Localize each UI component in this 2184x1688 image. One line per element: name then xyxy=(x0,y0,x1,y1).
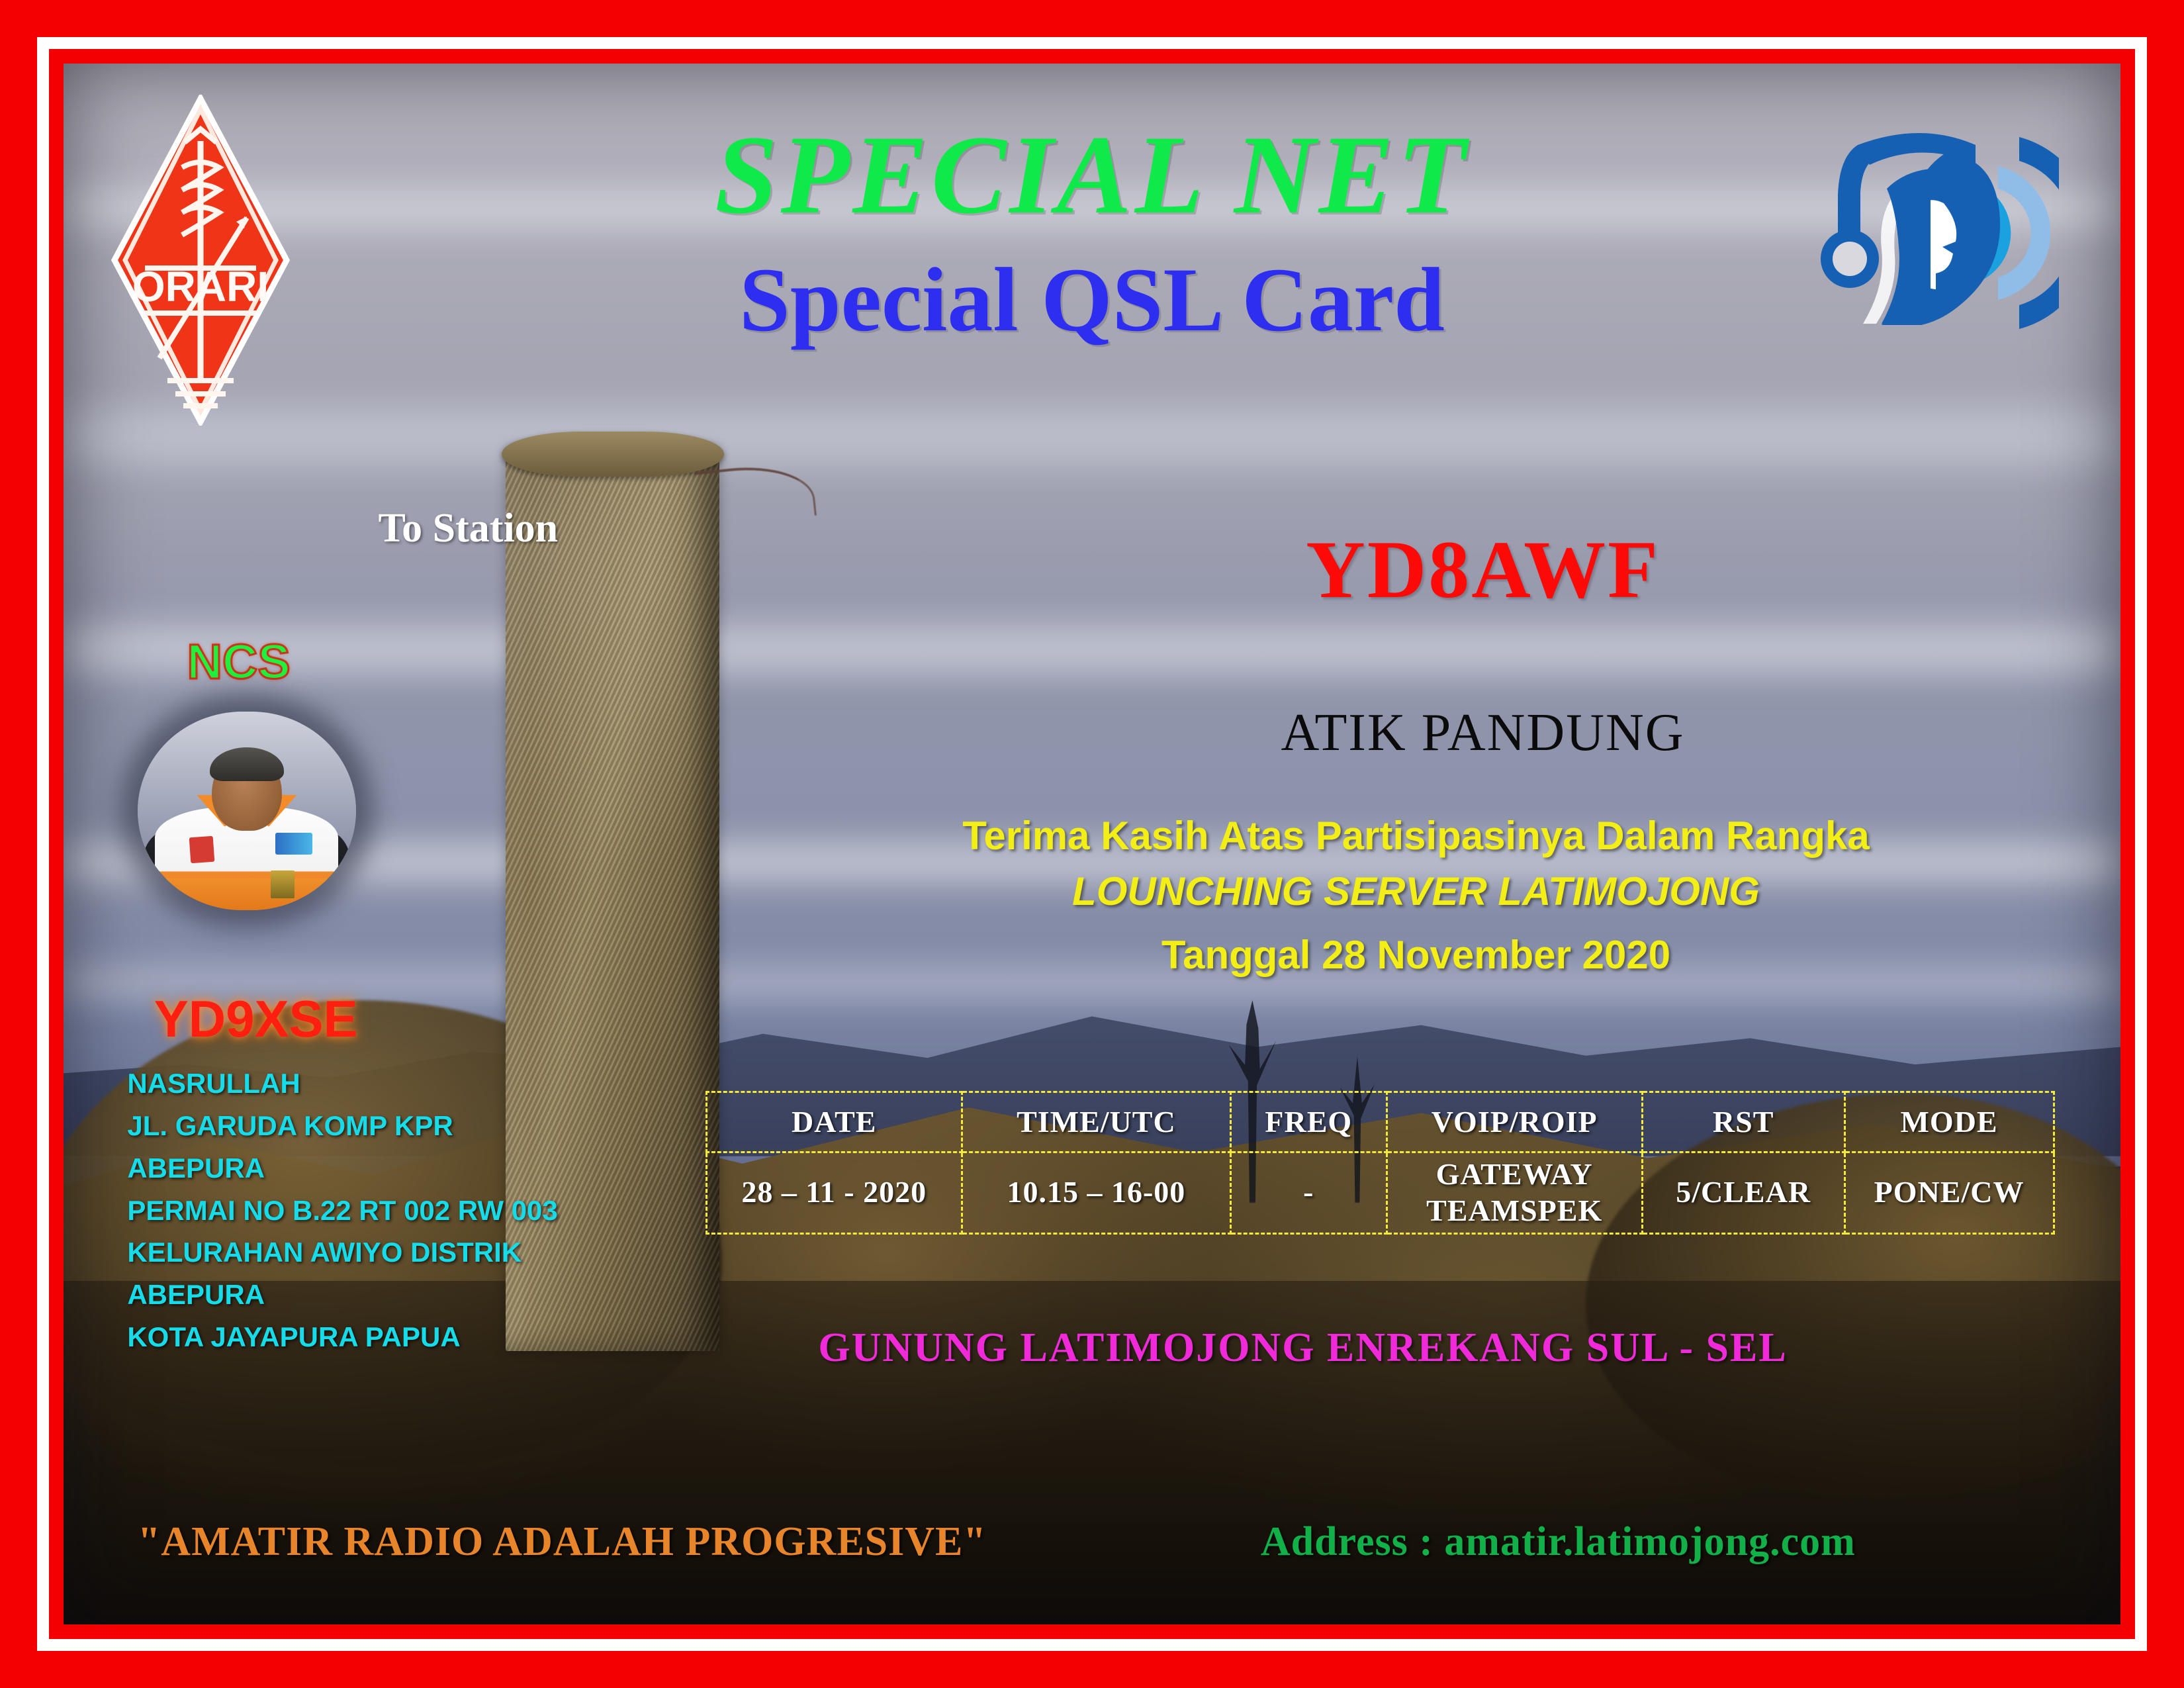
table-header-time-utc: TIME/UTC xyxy=(962,1092,1230,1152)
thanks-message-block: Terima Kasih Atas Partisipasinya Dalam R… xyxy=(763,813,2070,987)
address-line: NASRULLAH xyxy=(127,1062,806,1105)
address-line: ABEPURA xyxy=(127,1274,806,1316)
qso-log-table: DATE TIME/UTC FREQ VOIP/ROIP RST MODE 28… xyxy=(705,1091,2055,1235)
qsl-card: ORARI xyxy=(0,0,2184,1688)
recipient-callsign: YD8AWF xyxy=(927,529,2038,611)
table-header-date: DATE xyxy=(706,1092,962,1152)
thanks-line-2: LOUNCHING SERVER LATIMOJONG xyxy=(763,860,2070,923)
card-photo-area: ORARI xyxy=(64,64,2120,1624)
thanks-line-1: Terima Kasih Atas Partisipasinya Dalam R… xyxy=(763,813,2070,860)
address-line: KELURAHAN AWIYO DISTRIK xyxy=(127,1231,806,1274)
thanks-line-3: Tanggal 28 November 2020 xyxy=(763,923,2070,987)
portrait-emblem-right xyxy=(275,833,312,855)
cell-time-utc: 10.15 – 16-00 xyxy=(962,1152,1230,1233)
portrait-badge-left xyxy=(189,835,215,863)
ncs-callsign: YD9XSE xyxy=(154,989,358,1049)
motto-text: "AMATIR RADIO ADALAH PROGRESIVE" xyxy=(138,1519,987,1566)
cell-date: 28 – 11 - 2020 xyxy=(706,1152,962,1233)
table-row: 28 – 11 - 2020 10.15 – 16-00 - GATEWAY T… xyxy=(706,1152,2054,1233)
recipient-operator-name: ATIK PANDUNG xyxy=(927,706,2038,759)
cell-voip-roip-line2: TEAMSPEK xyxy=(1388,1193,1641,1229)
cell-mode: PONE/CW xyxy=(1844,1152,2054,1233)
to-station-label: To Station xyxy=(379,505,559,552)
table-header-freq: FREQ xyxy=(1230,1092,1387,1152)
portrait-orange-sash xyxy=(151,878,343,910)
ncs-label: NCS xyxy=(187,633,290,690)
page-title-special-net: SPECIAL NET xyxy=(64,118,2120,231)
table-header-voip-roip: VOIP/ROIP xyxy=(1387,1092,1642,1152)
cell-voip-roip-line1: GATEWAY xyxy=(1388,1156,1641,1192)
return-address-block: NASRULLAH JL. GARUDA KOMP KPR ABEPURA PE… xyxy=(127,1062,806,1358)
subtitle-special-qsl-card: Special QSL Card xyxy=(64,254,2120,346)
cell-freq: - xyxy=(1230,1152,1387,1233)
web-address-text: Address : amatir.latimojong.com xyxy=(1261,1519,1856,1566)
table-header-rst: RST xyxy=(1642,1092,1844,1152)
table-header-mode: MODE xyxy=(1844,1092,2054,1152)
location-line: GUNUNG LATIMOJONG ENREKANG SUL - SEL xyxy=(650,1325,1956,1372)
cell-rst: 5/CLEAR xyxy=(1642,1152,1844,1233)
operator-portrait-photo xyxy=(138,712,356,910)
address-line: JL. GARUDA KOMP KPR xyxy=(127,1105,806,1147)
portrait-id-card xyxy=(271,870,295,898)
table-header-row: DATE TIME/UTC FREQ VOIP/ROIP RST MODE xyxy=(706,1092,2054,1152)
cell-voip-roip: GATEWAY TEAMSPEK xyxy=(1387,1152,1642,1233)
address-line: PERMAI NO B.22 RT 002 RW 003 xyxy=(127,1190,806,1232)
address-line: ABEPURA xyxy=(127,1147,806,1190)
